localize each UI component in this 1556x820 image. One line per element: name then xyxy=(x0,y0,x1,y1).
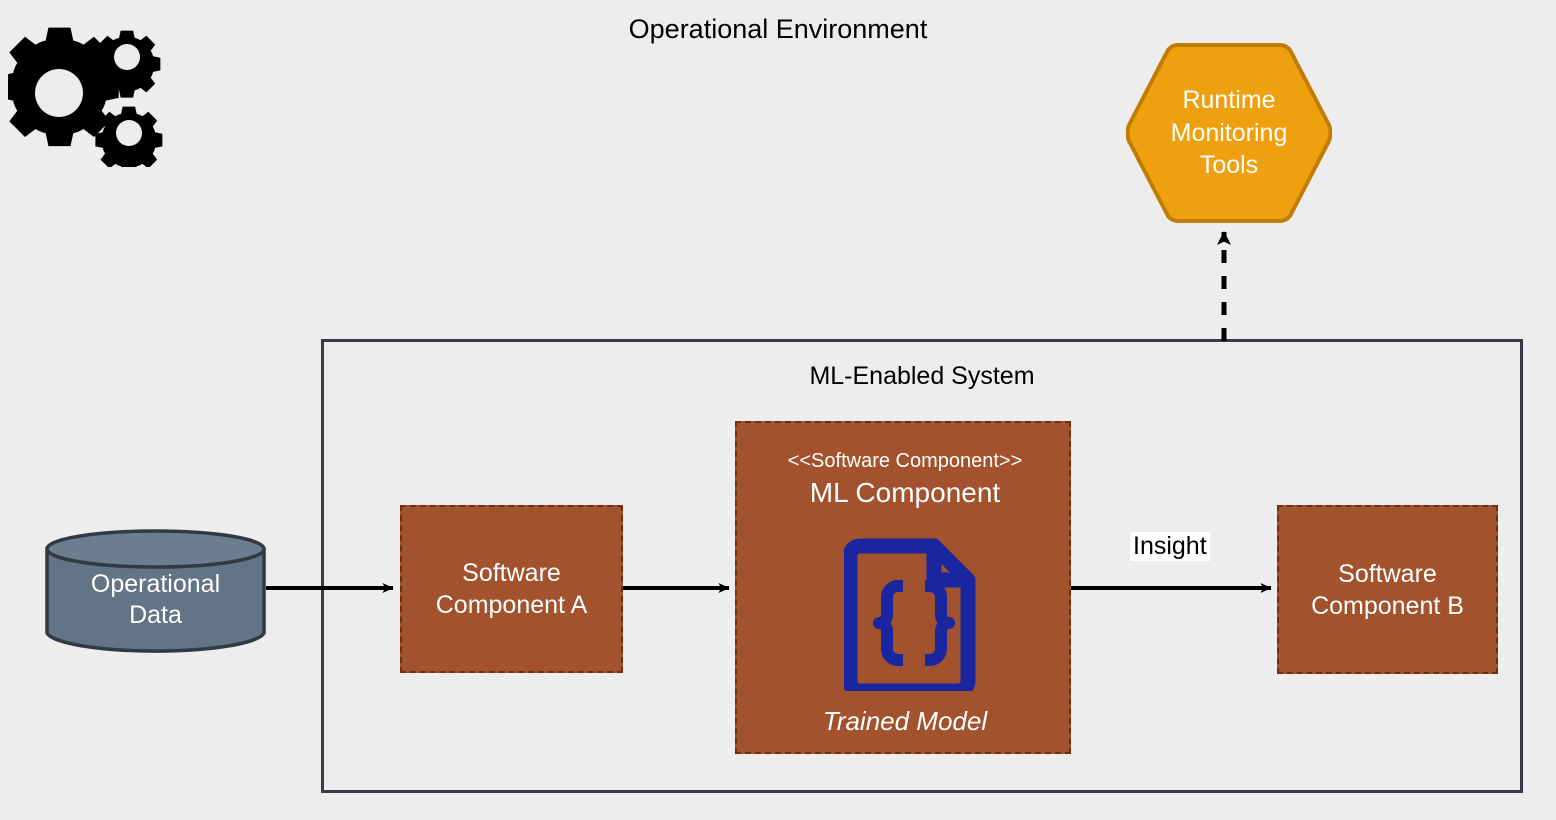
node-ml-component[interactable]: <<Software Component>> ML Component Trai… xyxy=(735,421,1071,754)
ml-component-name: ML Component xyxy=(737,477,1073,509)
comp-b-line-1: Software xyxy=(1338,558,1437,590)
container-ml-enabled-system-label: ML-Enabled System xyxy=(321,362,1523,391)
diagram-canvas: Operational Environment Runtime Monitori… xyxy=(0,0,1556,820)
ml-component-caption: Trained Model xyxy=(737,706,1073,737)
comp-a-line-2: Component A xyxy=(436,589,588,621)
ml-component-stereotype: <<Software Component>> xyxy=(737,450,1073,473)
edge-label-insight: Insight xyxy=(1130,532,1210,561)
node-operational-data[interactable]: Operational Data xyxy=(45,529,266,653)
node-software-component-b[interactable]: Software Component B xyxy=(1277,505,1498,674)
node-software-component-a[interactable]: Software Component A xyxy=(400,505,623,673)
page-title: Operational Environment xyxy=(0,14,1556,45)
gears-icon xyxy=(8,22,168,167)
comp-a-line-1: Software xyxy=(462,557,561,589)
file-braces-icon xyxy=(844,536,984,691)
comp-b-line-2: Component B xyxy=(1311,590,1464,622)
node-runtime-monitoring-tools[interactable]: Runtime Monitoring Tools xyxy=(1126,42,1332,224)
